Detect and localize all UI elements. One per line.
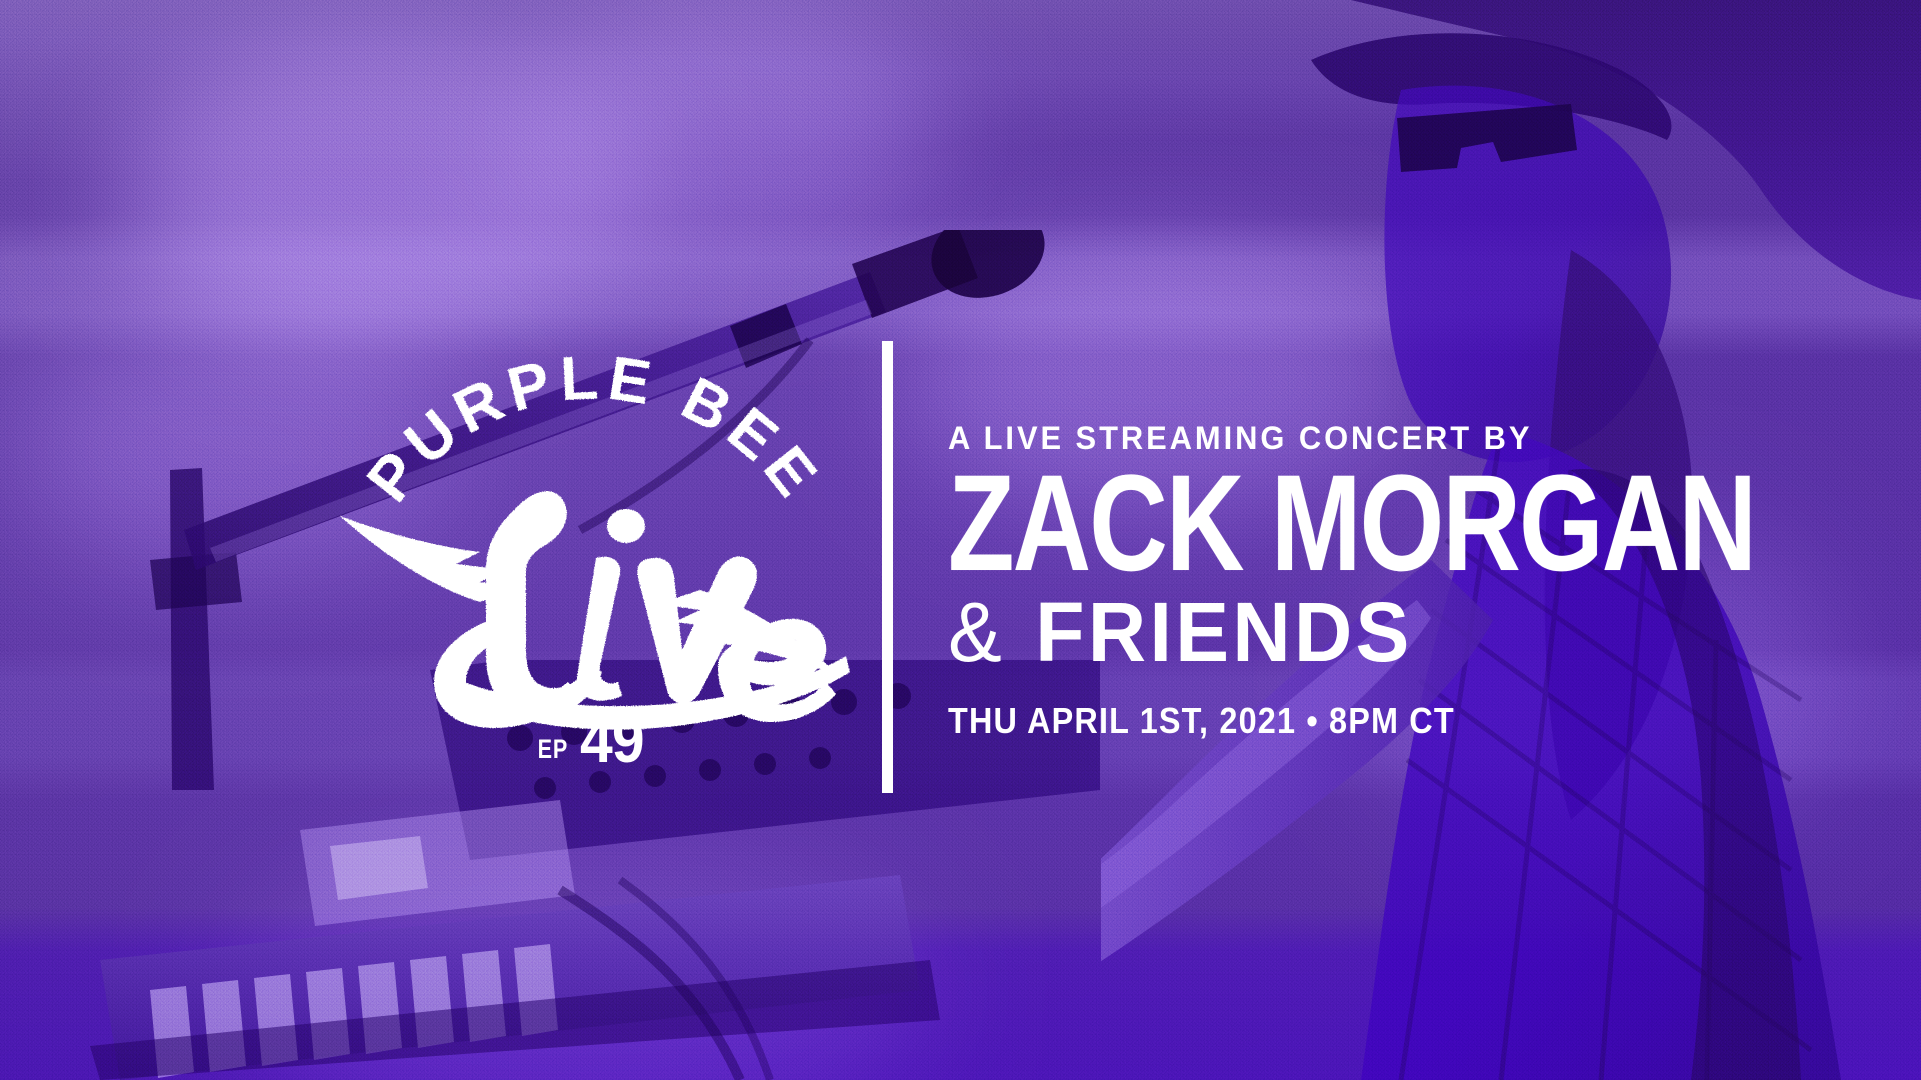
concert-promo-poster: PURPLE BEE [0,0,1921,1080]
logo-arc-text: PURPLE BEE [354,343,834,514]
artist-subtitle: & FRIENDS [948,593,1620,672]
poster-content: PURPLE BEE [0,0,1921,1080]
event-dateline: THU APRIL 1ST, 2021 • 8PM CT [948,700,1578,742]
purple-bee-live-logo: PURPLE BEE [330,320,850,790]
event-info-block: A LIVE STREAMING CONCERT BY ZACK MORGAN … [948,420,1648,742]
vertical-divider [882,341,893,793]
logo-script-text [434,491,850,729]
episode-badge: EP 49 [330,713,850,768]
ampersand: & [948,585,1009,679]
episode-label: EP [538,736,568,768]
episode-number: 49 [580,713,644,768]
artist-name: ZACK MORGAN [948,469,1505,579]
artist-subtitle-text: FRIENDS [1035,585,1412,679]
